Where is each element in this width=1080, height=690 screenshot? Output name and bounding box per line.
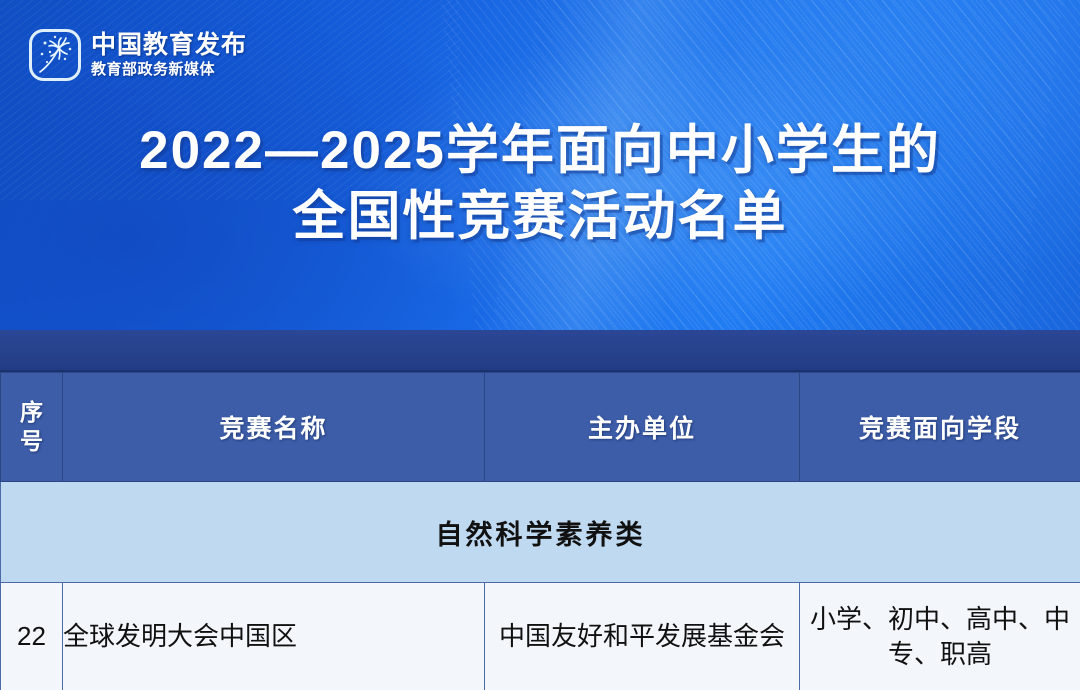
category-label: 自然科学素养类 [1,482,1080,583]
table-body: 自然科学素养类 22 全球发明大会中国区 中国友好和平发展基金会 小学、初中、高… [1,482,1080,690]
column-header-name: 竞赛名称 [63,373,485,482]
table-header: 序号 竞赛名称 主办单位 竞赛面向学段 [1,373,1080,482]
cell-name: 全球发明大会中国区 [63,583,485,690]
brand-name: 中国教育发布 [91,33,247,58]
header-banner: 中国教育发布 教育部政务新媒体 2022—2025学年面向中小学生的 全国性竞赛… [0,0,1080,330]
poster-page: 中国教育发布 教育部政务新媒体 2022—2025学年面向中小学生的 全国性竞赛… [0,0,1080,690]
cell-stage: 小学、初中、高中、中专、职高 [800,583,1080,690]
brand-logo-text: 中国教育发布 教育部政务新媒体 [91,33,247,77]
category-row: 自然科学素养类 [1,482,1080,583]
column-header-no: 序号 [1,373,63,482]
column-header-org: 主办单位 [485,373,800,482]
cell-no: 22 [1,583,63,690]
competition-list-table-wrapper: 序号 竞赛名称 主办单位 竞赛面向学段 自然科学素养类 22 全球发明大会中国区… [0,372,1080,690]
page-title: 2022—2025学年面向中小学生的 全国性竞赛活动名单 [0,118,1080,249]
table-row: 22 全球发明大会中国区 中国友好和平发展基金会 小学、初中、高中、中专、职高 [1,583,1080,690]
dandelion-icon [28,28,82,82]
column-header-stage: 竞赛面向学段 [800,373,1080,482]
table-header-row: 序号 竞赛名称 主办单位 竞赛面向学段 [1,373,1080,482]
brand-logo: 中国教育发布 教育部政务新媒体 [28,28,247,82]
competition-list-table: 序号 竞赛名称 主办单位 竞赛面向学段 自然科学素养类 22 全球发明大会中国区… [0,372,1080,690]
brand-subtitle: 教育部政务新媒体 [91,62,247,77]
cell-org: 中国友好和平发展基金会 [485,583,800,690]
page-title-line-2: 全国性竞赛活动名单 [0,184,1080,250]
banner-table-divider [0,330,1080,372]
page-title-line-1: 2022—2025学年面向中小学生的 [0,118,1080,184]
